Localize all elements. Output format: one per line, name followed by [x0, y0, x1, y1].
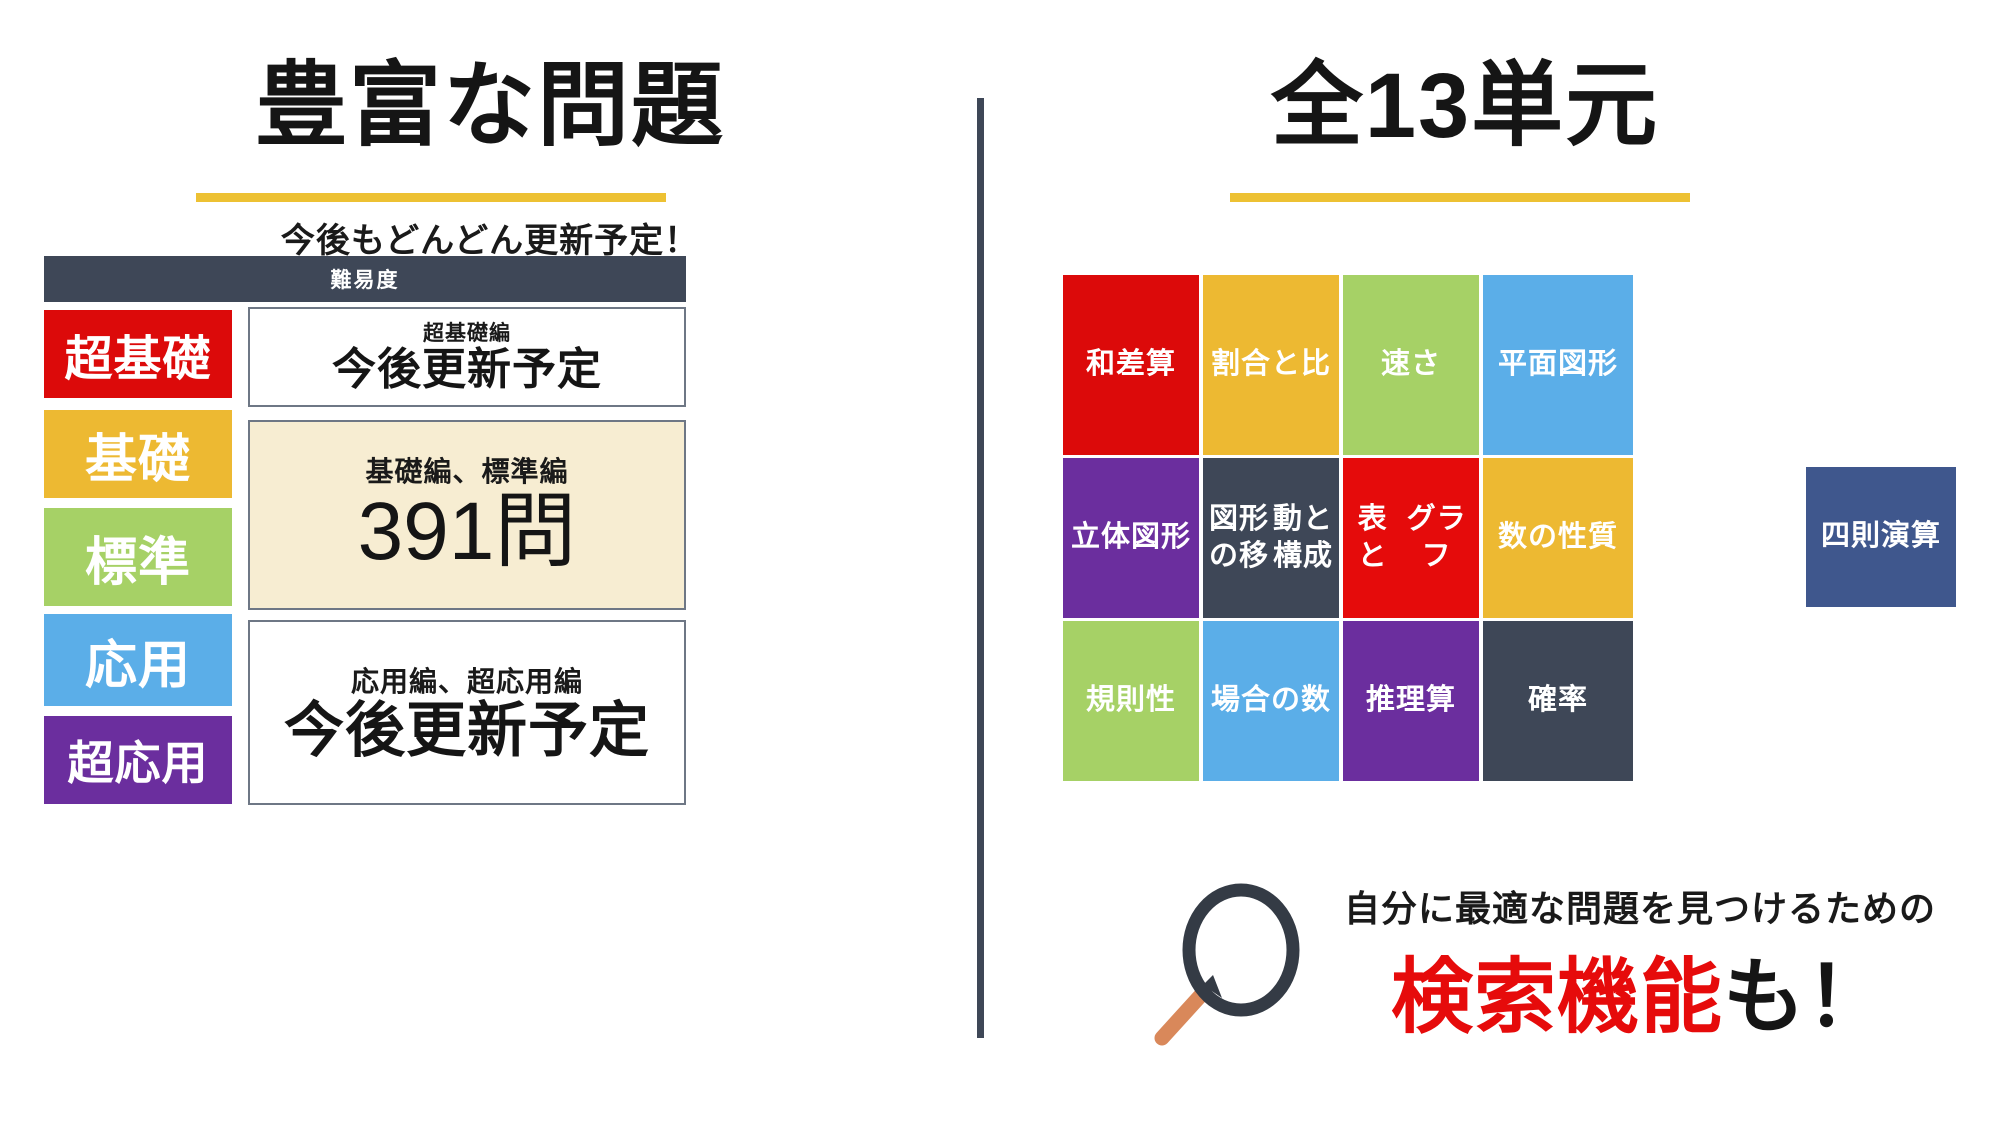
unit-tile-heimen-zukei[interactable]: 平面図形	[1483, 275, 1633, 455]
panel-basic-standard-kicker: 基礎編、標準編	[365, 454, 568, 489]
right-section-title: 全13単元	[1000, 55, 1930, 158]
search-headline: 検索機能も！	[1290, 930, 1990, 1049]
difficulty-chip-super-basic: 超基礎	[44, 310, 232, 398]
unit-tile-rittai-zukei[interactable]: 立体図形	[1063, 458, 1199, 618]
unit-tile-label: 図形の移	[1207, 501, 1271, 575]
unit-tile-label: 動と構成	[1271, 501, 1335, 575]
difficulty-chip-basic: 基礎	[44, 410, 232, 498]
infographic-slide: 豊富な問題 今後もどんどん更新予定！ 難易度 超基礎 基礎 標準 応用 超応用 …	[0, 0, 2000, 1125]
panel-super-basic-value: 今後更新予定	[332, 347, 602, 393]
unit-tile-label: 推理算	[1366, 682, 1456, 719]
unit-tile-kazu-no-seishitsu[interactable]: 数の性質	[1483, 458, 1633, 618]
left-section-subtitle: 今後もどんどん更新予定！	[150, 213, 830, 262]
vertical-divider	[977, 98, 984, 1038]
unit-tile-shisoku-enzan[interactable]: 四則演算	[1806, 467, 1956, 607]
unit-tile-label: 数の性質	[1498, 519, 1618, 556]
panel-super-basic: 超基礎編 今後更新予定	[248, 307, 686, 407]
panel-applied-kicker: 応用編、超応用編	[351, 664, 583, 699]
search-headline-highlight: 検索機能	[1391, 952, 1723, 1043]
panel-basic-standard-value: 391問	[358, 489, 577, 575]
unit-tile-label: 和差算	[1086, 346, 1176, 383]
unit-tile-label: 四則演算	[1821, 518, 1941, 555]
search-caption: 自分に最適な問題を見つけるための	[1290, 880, 1990, 932]
panel-applied-value: 今後更新予定	[284, 699, 650, 762]
unit-tile-label: 割合と比	[1211, 346, 1331, 383]
unit-tile-hyou-to-graph[interactable]: 表とグラフ	[1343, 458, 1479, 618]
unit-tile-label: 確率	[1528, 682, 1588, 719]
right-title-underline	[1230, 193, 1690, 202]
unit-tile-kakuritsu[interactable]: 確率	[1483, 621, 1633, 781]
left-section-title: 豊富な問題	[150, 55, 830, 158]
unit-tile-zukei-no-idou[interactable]: 図形の移動と構成	[1203, 458, 1339, 618]
left-title-underline	[196, 193, 666, 202]
unit-tile-label: 規則性	[1086, 682, 1176, 719]
unit-tile-label: 平面図形	[1498, 346, 1618, 383]
unit-tile-wasazan[interactable]: 和差算	[1063, 275, 1199, 455]
unit-tile-hayasa[interactable]: 速さ	[1343, 275, 1479, 455]
search-headline-tail: も！	[1723, 952, 1889, 1043]
unit-tile-label: 場合の数	[1211, 682, 1331, 719]
difficulty-chip-standard: 標準	[44, 508, 232, 606]
unit-tile-wariai-to-hi[interactable]: 割合と比	[1203, 275, 1339, 455]
unit-tile-label: 立体図形	[1071, 519, 1191, 556]
difficulty-chip-super-applied: 超応用	[44, 716, 232, 804]
unit-tile-baai-no-kazu[interactable]: 場合の数	[1203, 621, 1339, 781]
panel-super-basic-kicker: 超基礎編	[423, 321, 511, 347]
difficulty-table-header: 難易度	[44, 256, 686, 302]
difficulty-chip-applied: 応用	[44, 614, 232, 706]
unit-tile-label: 速さ	[1381, 346, 1441, 383]
panel-basic-standard: 基礎編、標準編 391問	[248, 420, 686, 610]
unit-tile-label: グラフ	[1398, 501, 1475, 575]
panel-applied: 応用編、超応用編 今後更新予定	[248, 620, 686, 805]
unit-tile-label: 表と	[1347, 501, 1398, 575]
unit-tile-suiri-zan[interactable]: 推理算	[1343, 621, 1479, 781]
unit-tile-kisokusei[interactable]: 規則性	[1063, 621, 1199, 781]
